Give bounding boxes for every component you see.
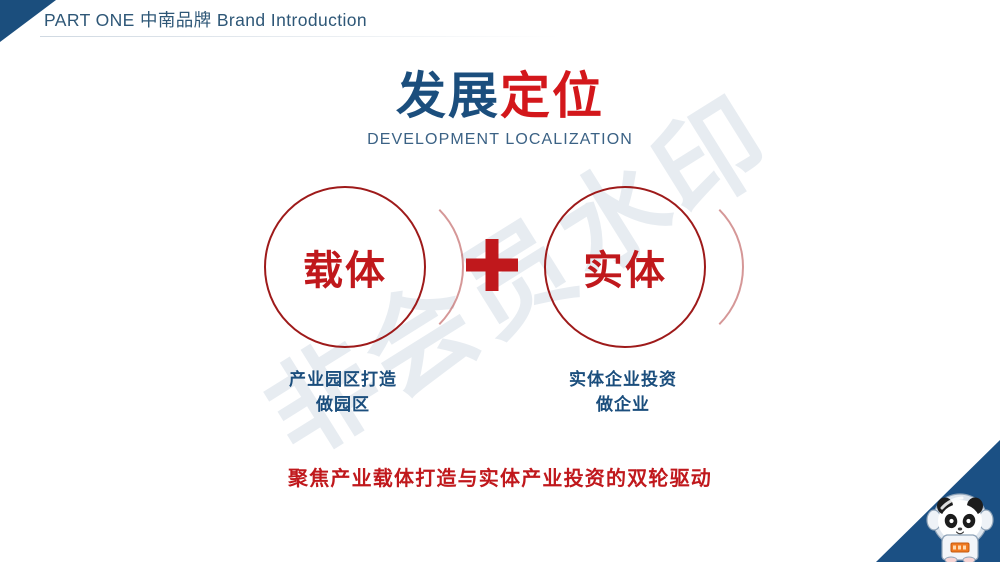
page-title-segment-red: 定位 bbox=[500, 68, 604, 124]
caption-carrier: 产业园区打造 做园区 bbox=[213, 368, 473, 417]
panda-astronaut-mascot-icon bbox=[926, 490, 994, 562]
diagram-node-entity-label: 实体 bbox=[583, 238, 667, 296]
caption-entity: 实体企业投资 做企业 bbox=[493, 368, 753, 417]
plus-icon bbox=[466, 239, 518, 291]
header-title: PART ONE 中南品牌 Brand Introduction bbox=[44, 7, 367, 32]
page-title-segment-blue: 发展 bbox=[396, 68, 500, 124]
page-title: 发展定位 bbox=[0, 70, 1000, 123]
tagline: 聚焦产业载体打造与实体产业投资的双轮驱动 bbox=[0, 462, 1000, 491]
page-subtitle: DEVELOPMENT LOCALIZATION bbox=[0, 131, 1000, 149]
title-block: 发展定位 DEVELOPMENT LOCALIZATION bbox=[0, 70, 1000, 149]
diagram-node-carrier[interactable]: 载体 bbox=[264, 186, 426, 348]
caption-entity-line2: 做企业 bbox=[493, 393, 753, 418]
caption-entity-line1: 实体企业投资 bbox=[569, 370, 677, 389]
header-divider bbox=[40, 36, 560, 37]
concept-diagram: 载体 实体 bbox=[0, 170, 1000, 370]
caption-carrier-line2: 做园区 bbox=[213, 393, 473, 418]
caption-carrier-line1: 产业园区打造 bbox=[289, 370, 397, 389]
diagram-captions: 产业园区打造 做园区 实体企业投资 做企业 bbox=[0, 368, 1000, 428]
diagram-node-carrier-label: 载体 bbox=[303, 238, 387, 296]
slide-canvas: PART ONE 中南品牌 Brand Introduction 非会员水印 发… bbox=[0, 0, 1000, 562]
diagram-node-entity[interactable]: 实体 bbox=[544, 186, 706, 348]
slide-header: PART ONE 中南品牌 Brand Introduction bbox=[0, 0, 1000, 38]
